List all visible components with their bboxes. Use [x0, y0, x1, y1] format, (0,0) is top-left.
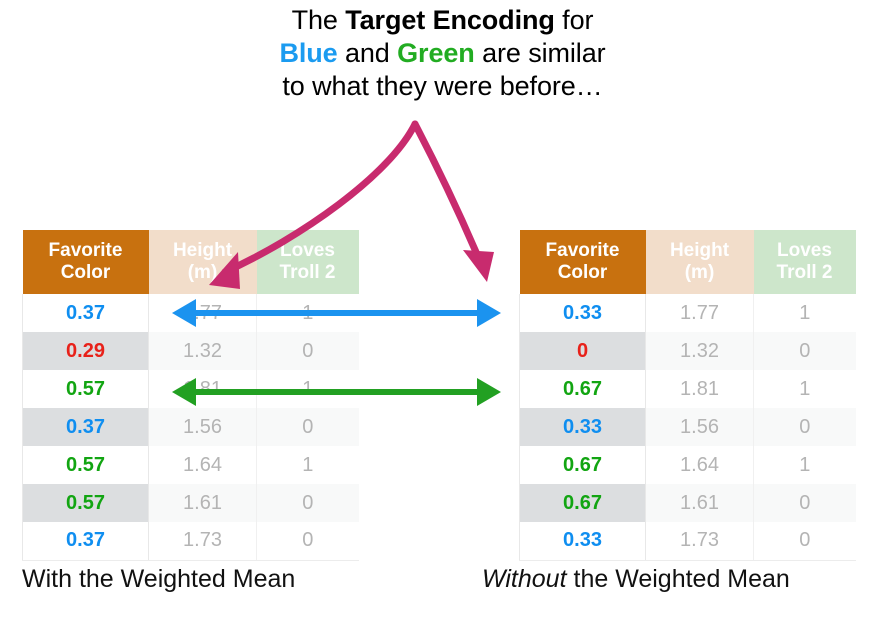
title-line-1-post: for [555, 5, 594, 35]
cell-favorite-color: 0.33 [520, 408, 646, 446]
title-line-1-pre: The [292, 5, 346, 35]
blue-arrow-head-right [477, 299, 501, 327]
cell-loves-troll-2: 0 [257, 484, 359, 522]
column-header-height: Height (m) [149, 230, 257, 294]
column-header-favorite-color: Favorite Color [23, 230, 149, 294]
column-header-favorite-color: Favorite Color [520, 230, 646, 294]
cell-favorite-color: 0.57 [23, 446, 149, 484]
cell-height: 1.77 [149, 294, 257, 332]
cell-favorite-color: 0.67 [520, 484, 646, 522]
cell-height: 1.77 [646, 294, 754, 332]
title-line-2: Blue and Green are similar [0, 37, 885, 70]
header-line-1: Loves [777, 240, 832, 261]
cell-loves-troll-2: 1 [754, 294, 856, 332]
table-without-weighted-mean: Favorite Color Height (m) Loves Troll 2 … [519, 230, 856, 561]
header-line-1: Favorite [546, 240, 620, 261]
table-header-row: Favorite Color Height (m) Loves Troll 2 [520, 230, 856, 294]
table-row: 0.371.730 [23, 522, 359, 560]
table-body-right: 0.331.77101.3200.671.8110.331.5600.671.6… [520, 294, 856, 560]
title-term-target-encoding: Target Encoding [345, 5, 555, 35]
cell-loves-troll-2: 0 [754, 522, 856, 560]
cell-height: 1.64 [646, 446, 754, 484]
column-header-loves-troll-2: Loves Troll 2 [257, 230, 359, 294]
cell-loves-troll-2: 1 [257, 370, 359, 408]
caption-with-weighted-mean: With the Weighted Mean [22, 565, 295, 594]
table-with-weighted-mean: Favorite Color Height (m) Loves Troll 2 … [22, 230, 359, 561]
table-header-row: Favorite Color Height (m) Loves Troll 2 [23, 230, 359, 294]
cell-loves-troll-2: 0 [257, 408, 359, 446]
cell-height: 1.56 [149, 408, 257, 446]
table-row: 0.671.641 [520, 446, 856, 484]
table-row: 0.331.560 [520, 408, 856, 446]
title-line-2-post: are similar [475, 38, 606, 68]
table-row: 0.571.641 [23, 446, 359, 484]
caption-rest: the Weighted Mean [567, 565, 790, 593]
cell-favorite-color: 0.37 [23, 408, 149, 446]
title-term-green: Green [397, 38, 475, 68]
header-line-1: Favorite [49, 240, 123, 261]
header-line-2: Color [558, 262, 608, 283]
header-line-2: (m) [188, 262, 218, 283]
table-body-left: 0.371.7710.291.3200.571.8110.371.5600.57… [23, 294, 359, 560]
cell-height: 1.32 [646, 332, 754, 370]
callout-arrow-right [415, 124, 476, 252]
cell-favorite-color: 0 [520, 332, 646, 370]
cell-favorite-color: 0.33 [520, 522, 646, 560]
table-row: 0.371.560 [23, 408, 359, 446]
table-row: 0.291.320 [23, 332, 359, 370]
cell-height: 1.81 [646, 370, 754, 408]
header-line-2: Troll 2 [777, 262, 833, 283]
table-row: 0.331.771 [520, 294, 856, 332]
cell-height: 1.32 [149, 332, 257, 370]
caption-emphasis-without: Without [482, 565, 567, 593]
cell-favorite-color: 0.57 [23, 370, 149, 408]
page-title: The Target Encoding for Blue and Green a… [0, 4, 885, 103]
cell-height: 1.64 [149, 446, 257, 484]
cell-height: 1.73 [646, 522, 754, 560]
header-line-1: Height [173, 240, 232, 261]
column-header-height: Height (m) [646, 230, 754, 294]
cell-loves-troll-2: 0 [754, 332, 856, 370]
cell-loves-troll-2: 1 [257, 294, 359, 332]
cell-loves-troll-2: 1 [257, 446, 359, 484]
cell-height: 1.56 [646, 408, 754, 446]
cell-favorite-color: 0.57 [23, 484, 149, 522]
cell-favorite-color: 0.37 [23, 294, 149, 332]
title-line-3: to what they were before… [0, 70, 885, 103]
header-line-1: Loves [280, 240, 335, 261]
cell-favorite-color: 0.67 [520, 446, 646, 484]
green-arrow-head-right [477, 378, 501, 406]
slide-root: The Target Encoding for Blue and Green a… [0, 0, 885, 617]
cell-loves-troll-2: 0 [257, 332, 359, 370]
cell-favorite-color: 0.33 [520, 294, 646, 332]
cell-height: 1.61 [646, 484, 754, 522]
header-line-1: Height [670, 240, 729, 261]
table-row: 0.571.811 [23, 370, 359, 408]
table-row: 0.671.811 [520, 370, 856, 408]
table-row: 0.371.771 [23, 294, 359, 332]
cell-height: 1.81 [149, 370, 257, 408]
header-line-2: Troll 2 [280, 262, 336, 283]
table-row: 0.671.610 [520, 484, 856, 522]
header-line-2: Color [61, 262, 111, 283]
title-term-blue: Blue [279, 38, 337, 68]
title-line-1: The Target Encoding for [0, 4, 885, 37]
table-row: 0.571.610 [23, 484, 359, 522]
cell-loves-troll-2: 1 [754, 370, 856, 408]
title-line-2-mid: and [338, 38, 398, 68]
cell-height: 1.73 [149, 522, 257, 560]
header-line-2: (m) [685, 262, 715, 283]
cell-favorite-color: 0.37 [23, 522, 149, 560]
table-row: 0.331.730 [520, 522, 856, 560]
column-header-loves-troll-2: Loves Troll 2 [754, 230, 856, 294]
cell-favorite-color: 0.67 [520, 370, 646, 408]
cell-height: 1.61 [149, 484, 257, 522]
cell-loves-troll-2: 0 [754, 484, 856, 522]
cell-loves-troll-2: 0 [257, 522, 359, 560]
callout-arrow-right-head [463, 250, 494, 282]
table-row: 01.320 [520, 332, 856, 370]
cell-loves-troll-2: 1 [754, 446, 856, 484]
caption-without-weighted-mean: Without the Weighted Mean [482, 565, 790, 594]
cell-loves-troll-2: 0 [754, 408, 856, 446]
cell-favorite-color: 0.29 [23, 332, 149, 370]
